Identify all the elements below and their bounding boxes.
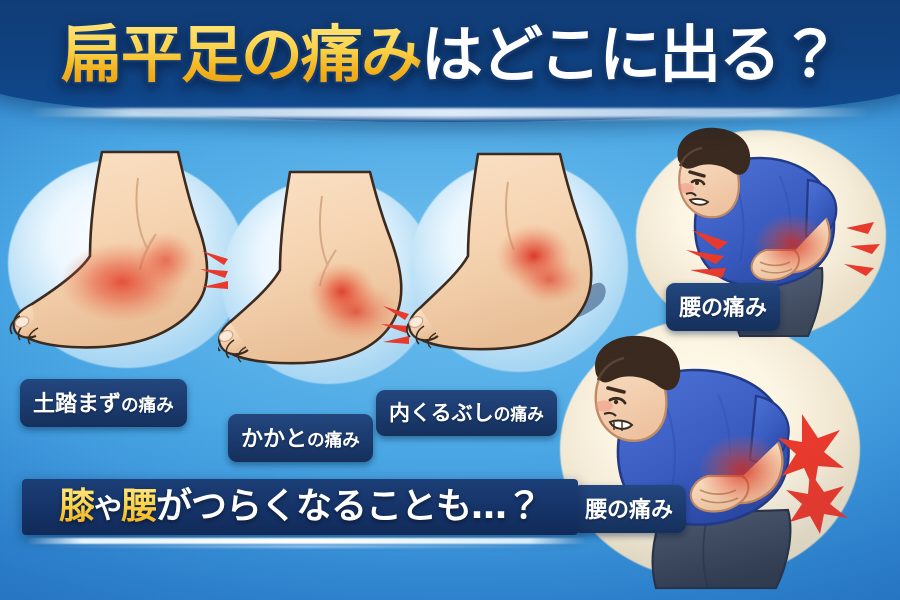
bottom-banner-underline-secondary	[40, 545, 570, 548]
label-arch-pain: 土踏まずの痛み	[20, 379, 187, 427]
page-title-rest: はどこに出る？	[421, 18, 839, 91]
label-lower-back-pain-upper: 腰の痛み	[666, 283, 780, 331]
label-inner-ankle-pain: 内くるぶしの痛み	[376, 390, 557, 436]
label-heel-pain-main: かかと	[241, 427, 307, 452]
page-title: 扁平足の痛みはどこに出る？	[0, 24, 900, 86]
banner-part-rest: がつらくなることも…？	[156, 486, 541, 527]
label-lower-back-pain-upper-text: 腰の痛み	[679, 296, 767, 321]
page-title-highlight: 扁平足の痛み	[61, 18, 421, 91]
label-lower-back-pain-lower: 腰の痛み	[572, 485, 686, 533]
label-heel-pain: かかとの痛み	[228, 414, 373, 462]
infographic-canvas: 扁平足の痛みはどこに出る？ 土踏まずの痛み かかとの痛み 内くるぶしの痛み 腰の…	[0, 0, 900, 600]
bottom-banner-underline	[26, 538, 586, 544]
label-inner-ankle-pain-main: 内くるぶし	[389, 401, 494, 425]
bottom-banner-text: 膝や腰がつらくなることも…？	[59, 489, 541, 525]
header-streak-secondary	[60, 116, 840, 120]
banner-part-lower-back: 腰	[121, 486, 156, 527]
banner-part-knee: 膝	[59, 486, 94, 527]
bottom-banner: 膝や腰がつらくなることも…？	[22, 479, 578, 535]
banner-part-ya: や	[94, 492, 121, 525]
label-lower-back-pain-lower-text: 腰の痛み	[585, 498, 673, 523]
label-inner-ankle-pain-suffix: の痛み	[494, 404, 544, 424]
label-heel-pain-suffix: の痛み	[307, 431, 360, 451]
label-arch-pain-suffix: の痛み	[121, 396, 174, 416]
label-arch-pain-main: 土踏まず	[33, 392, 121, 417]
